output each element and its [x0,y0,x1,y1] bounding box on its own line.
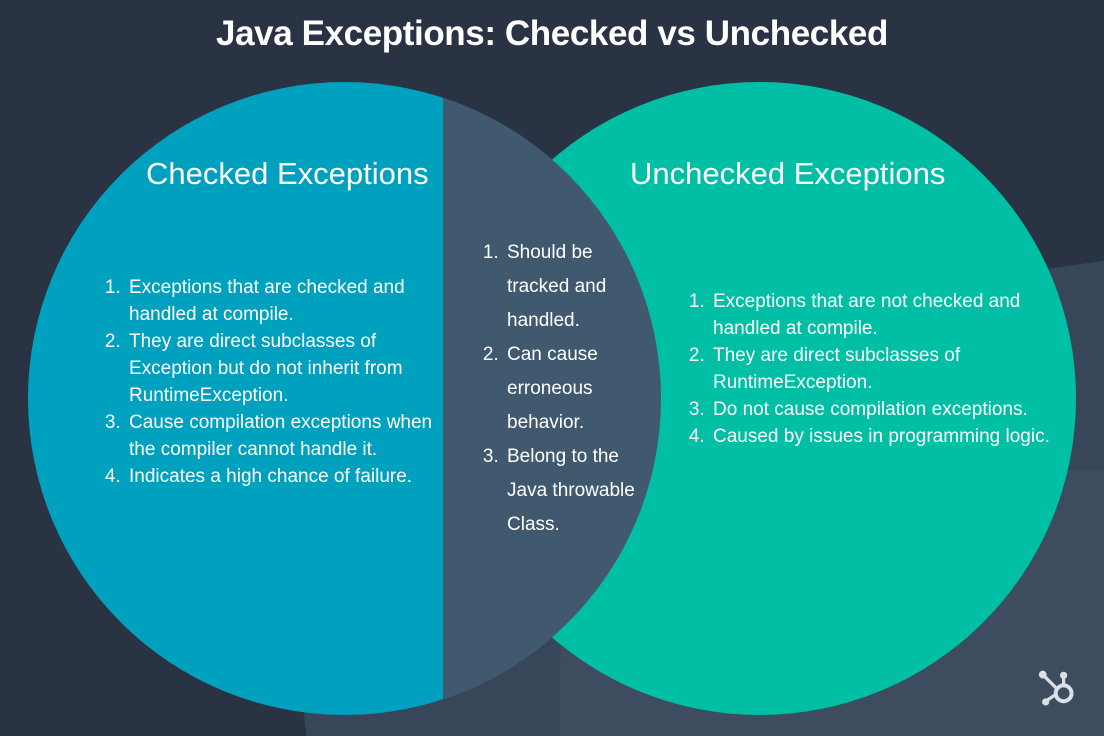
venn-list-checked: Exceptions that are checked and handled … [100,274,456,490]
list-item: Exceptions that are checked and handled … [126,274,456,328]
list-item: Cause compilation exceptions when the co… [126,409,456,463]
venn-heading-checked: Checked Exceptions [146,156,429,192]
list-item: Indicates a high chance of failure. [126,463,456,490]
list-item: Belong to the Java throwable Class. [504,440,644,542]
page-title: Java Exceptions: Checked vs Unchecked [0,14,1104,54]
list-item: Can cause erroneous behavior. [504,338,644,440]
list-item: Exceptions that are not checked and hand… [710,288,1070,342]
venn-heading-unchecked: Unchecked Exceptions [630,156,945,192]
venn-list-unchecked: Exceptions that are not checked and hand… [684,288,1070,450]
venn-list-shared: Should be tracked and handled.Can cause … [478,236,644,542]
infographic-canvas: Java Exceptions: Checked vs Unchecked Ch… [0,0,1104,736]
list-item: Should be tracked and handled. [504,236,644,338]
list-item: Do not cause compilation exceptions. [710,396,1070,423]
list-item: They are direct subclasses of RuntimeExc… [710,342,1070,396]
list-item: Caused by issues in programming logic. [710,423,1070,450]
hubspot-sprocket-logo [1032,666,1078,712]
list-item: They are direct subclasses of Exception … [126,328,456,409]
